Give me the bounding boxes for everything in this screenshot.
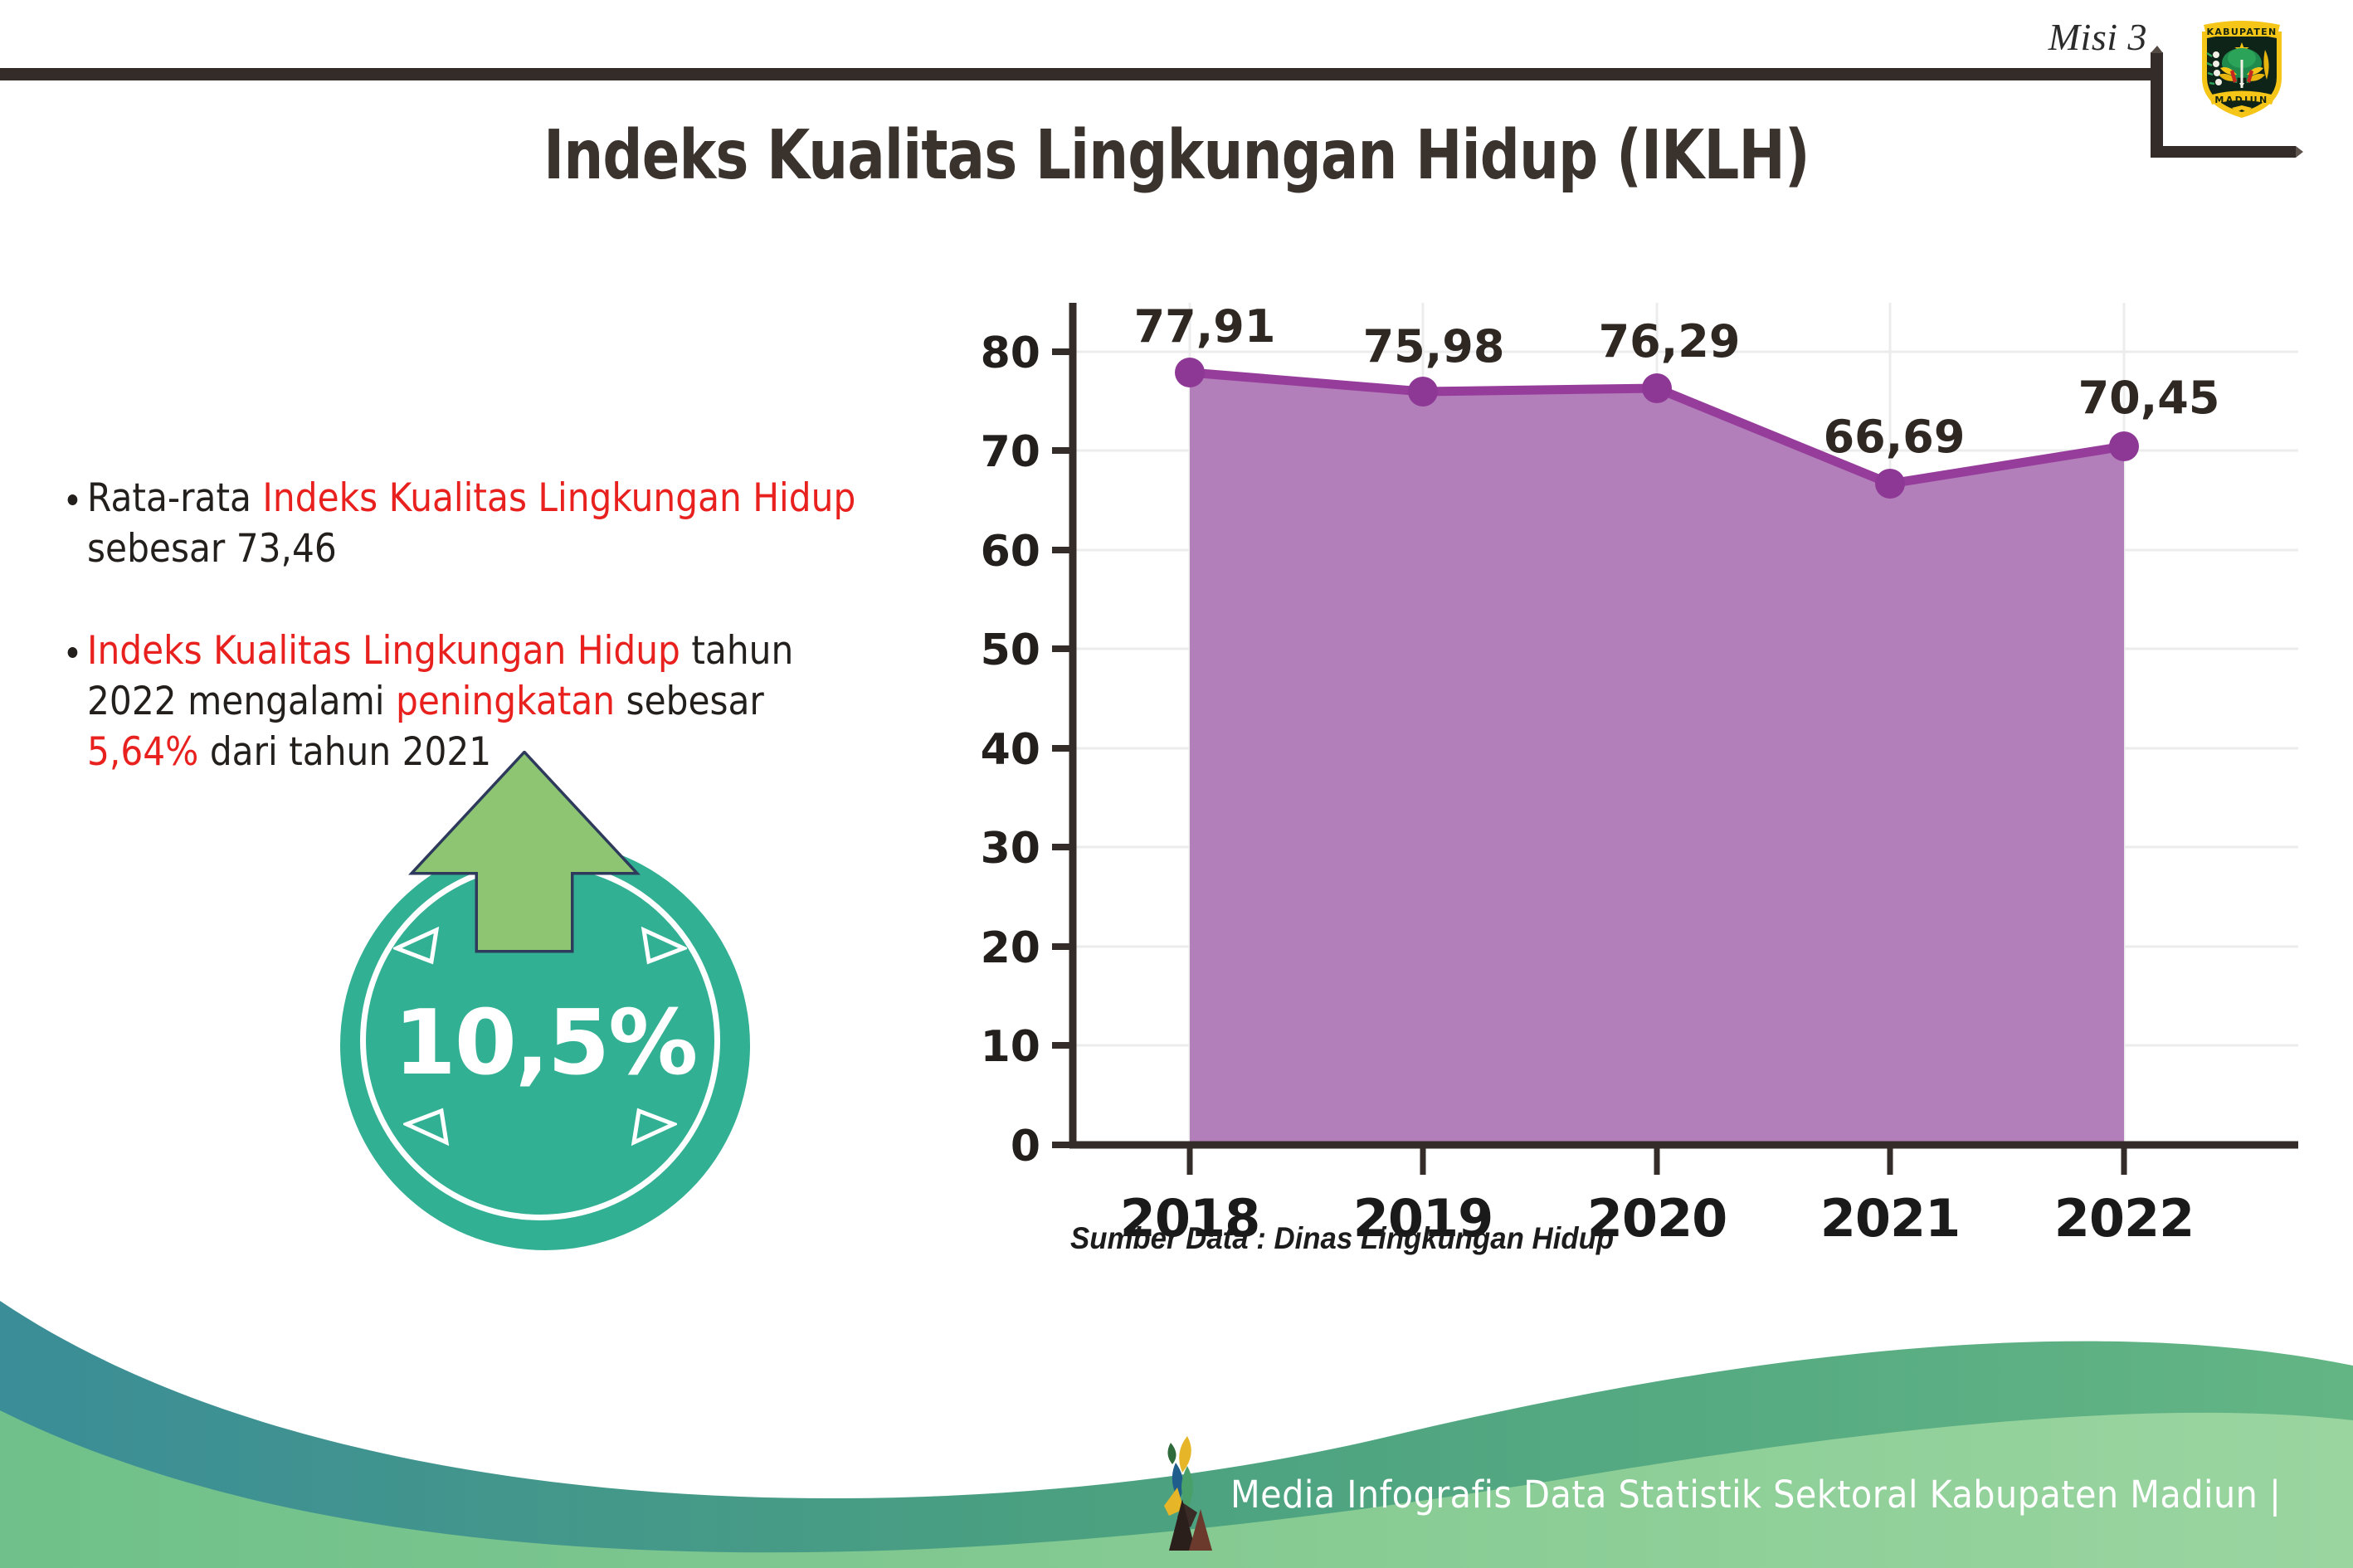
badge-value: 10,5%: [340, 991, 750, 1095]
list-item: Rata-rata Indeks Kualitas Lingkungan Hid…: [65, 473, 886, 574]
kabupaten-madiun-emblem-icon: KABUPATEN MADIUN: [2195, 17, 2288, 121]
header-rule: [0, 68, 2163, 80]
data-label: 75,98: [1363, 320, 1505, 373]
footer-text: Media Infografis Data Statistik Sektoral…: [1230, 1473, 2281, 1517]
y-tick-label: 20: [981, 923, 1040, 973]
x-tick-label: 2021: [1820, 1188, 1961, 1249]
y-tick-label: 10: [981, 1022, 1040, 1072]
chart-area-fill: [1190, 373, 2124, 1145]
bullet-2-seg-0: Indeks Kualitas Lingkungan Hidup: [87, 628, 680, 674]
bullet-2-seg-3: sebesar: [615, 679, 764, 724]
header-bracket-horizontal: [2151, 146, 2296, 158]
increase-badge: 10,5%: [325, 751, 790, 1215]
y-tick-label: 80: [981, 329, 1040, 378]
y-tick-label: 70: [981, 427, 1040, 477]
data-label: 77,91: [1134, 300, 1276, 353]
header-bracket-vertical: [2151, 52, 2163, 158]
svg-text:MADIUN: MADIUN: [2214, 95, 2268, 105]
bullet-1-seg-2: sebesar 73,46: [87, 526, 337, 572]
svg-text:KABUPATEN: KABUPATEN: [2207, 27, 2277, 37]
y-axis-labels: 80 70 60 50 40 30 20 10 0: [981, 329, 1040, 1171]
x-axis-ticks: [1190, 1145, 2124, 1175]
page-title: Indeks Kualitas Lingkungan Hidup (IKLH): [212, 116, 2141, 195]
bullet-1-seg-1: Indeks Kualitas Lingkungan Hidup: [262, 475, 855, 521]
y-tick-label: 40: [981, 725, 1040, 775]
bullet-1-seg-0: Rata-rata: [87, 475, 262, 521]
mission-label: Misi 3: [2049, 15, 2147, 59]
y-tick-label: 0: [1011, 1122, 1040, 1171]
chart-source-note: Sumber Data : Dinas Lingkungan Hidup: [1070, 1221, 1614, 1256]
y-tick-label: 60: [981, 527, 1040, 577]
up-arrow-icon: [408, 751, 641, 958]
infographic-slide: Misi 3 KABUPATEN MADIUN Indeks Kualitas …: [0, 0, 2353, 1568]
y-tick-label: 50: [981, 626, 1040, 675]
x-tick-label: 2022: [2054, 1188, 2195, 1249]
data-label: 70,45: [2078, 372, 2220, 424]
data-label: 66,69: [1824, 411, 1966, 463]
data-label: 76,29: [1599, 315, 1741, 368]
bullet-2-seg-4: 5,64%: [87, 729, 198, 775]
bullet-2-seg-2: peningkatan: [396, 679, 615, 724]
bps-figure-logo-icon: [1151, 1429, 1227, 1552]
iklh-area-chart: 77,91 75,98 76,29 66,69 70,45: [954, 282, 2298, 1294]
y-tick-label: 30: [981, 824, 1040, 874]
